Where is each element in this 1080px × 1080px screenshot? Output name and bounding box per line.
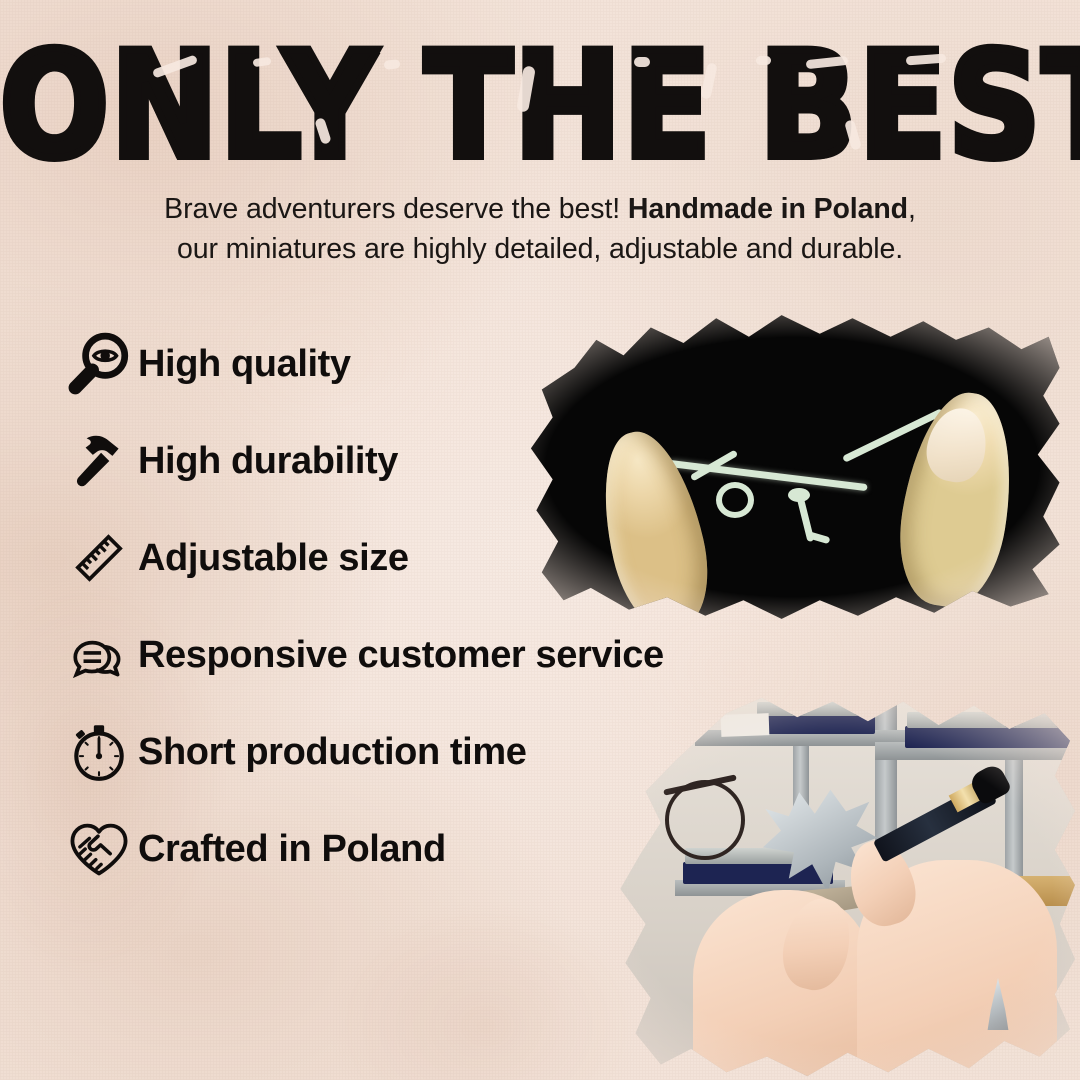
stopwatch-icon <box>60 719 138 785</box>
miniature-tray-mid <box>683 862 833 884</box>
feature-label: High quality <box>138 343 351 386</box>
feature-label: Adjustable size <box>138 537 409 580</box>
feature-item-production-time: Short production time <box>60 716 526 788</box>
subtitle-line1-tail: , <box>908 193 916 225</box>
feature-label: High durability <box>138 440 398 483</box>
page-title: ONLY THE BEST <box>0 34 1080 180</box>
speech-bubbles-icon <box>60 622 138 688</box>
workshop-painting-photo <box>575 690 1080 1080</box>
magnifier-eye-icon <box>60 331 138 397</box>
ruler-icon <box>60 525 138 591</box>
subtitle-line2: our miniatures are highly detailed, adju… <box>177 233 903 265</box>
feature-item-crafted-in-poland: Crafted in Poland <box>60 813 446 885</box>
feature-item-customer-service: Responsive customer service <box>60 619 664 691</box>
subtitle-line1-lead: Brave adventurers deserve the best! <box>164 193 628 225</box>
promo-poster: ONLY THE BEST Brave adventurers deserve … <box>0 0 1080 1080</box>
headline-area: ONLY THE BEST <box>0 0 1080 180</box>
miniatures-row-upper <box>907 712 1080 728</box>
feature-item-high-durability: High durability <box>60 425 398 497</box>
miniatures-row-top <box>757 702 875 716</box>
feature-label: Short production time <box>138 731 526 774</box>
feature-item-high-quality: High quality <box>60 328 351 400</box>
miniature-tray-upper <box>905 726 1080 748</box>
feature-item-adjustable-size: Adjustable size <box>60 522 409 594</box>
miniature-closeup-photo <box>520 312 1065 622</box>
miniature-part-ring <box>716 482 754 518</box>
subtitle: Brave adventurers deserve the best! Hand… <box>90 190 990 270</box>
hammer-icon <box>60 428 138 494</box>
feature-label: Responsive customer service <box>138 634 664 677</box>
miniature-tray-top <box>755 714 875 734</box>
feature-label: Crafted in Poland <box>138 828 446 871</box>
miniature-part-knot <box>788 488 810 502</box>
heart-handshake-icon <box>60 815 138 883</box>
subtitle-line1-bold: Handmade in Poland <box>628 193 908 225</box>
shelf-label-tag <box>721 713 770 737</box>
